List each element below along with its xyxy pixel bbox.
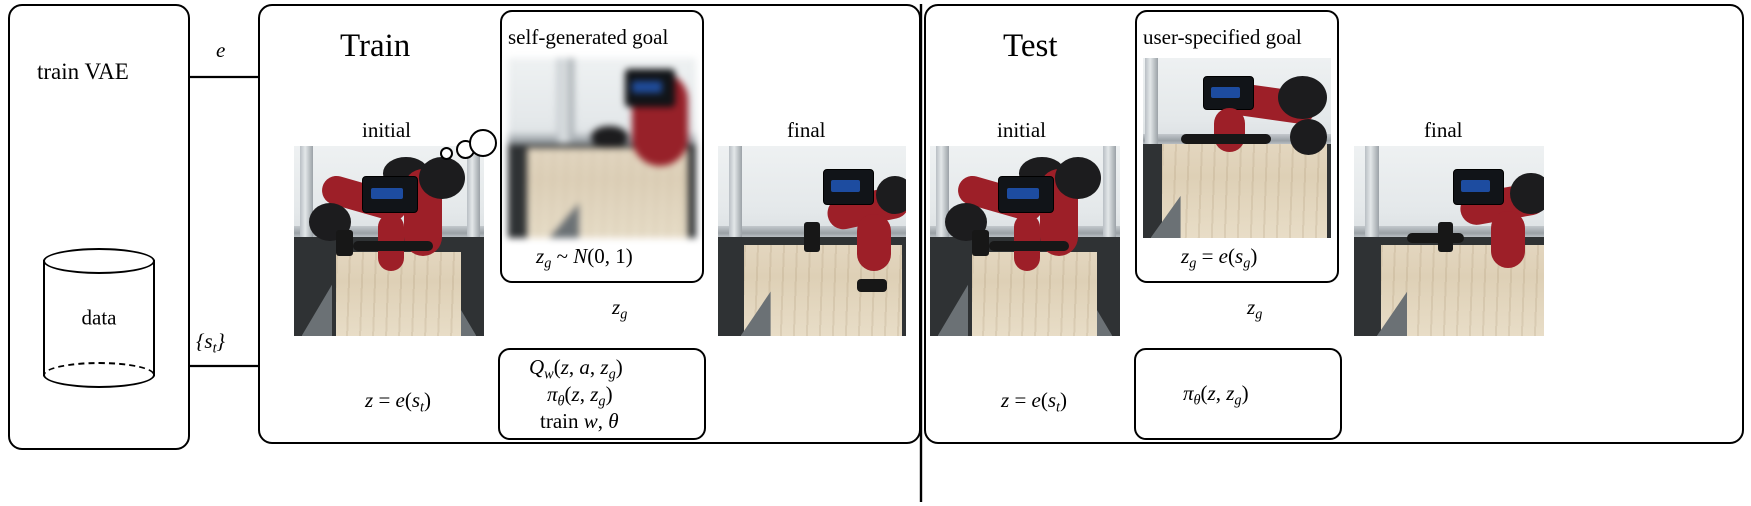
- test-final-photo: [1354, 146, 1544, 336]
- train-policy-function: πθ(z, zg): [547, 384, 613, 409]
- train-initial-caption: initial: [362, 120, 411, 141]
- test-final-caption: final: [1424, 120, 1462, 141]
- test-encoder-label: z = e(st): [1001, 390, 1067, 415]
- test-goal-photo: [1143, 58, 1331, 238]
- test-policy-function: πθ(z, zg): [1183, 383, 1249, 408]
- cylinder-top: [43, 248, 155, 274]
- edge-label-states: {st}: [196, 331, 225, 356]
- train-goal-formula: zg ~ N(0, 1): [536, 246, 633, 271]
- train-panel-title: Train: [340, 30, 410, 63]
- train-goal-photo: [508, 58, 696, 238]
- train-goal-latent-label: zg: [612, 297, 627, 322]
- data-label: data: [43, 306, 155, 331]
- edge-label-e: e: [216, 40, 225, 61]
- train-final-caption: final: [787, 120, 825, 141]
- train-encoder-label: z = e(st): [365, 390, 431, 415]
- vae-panel-title: train VAE: [37, 60, 129, 83]
- test-goal-formula: zg = e(sg): [1181, 246, 1257, 271]
- train-initial-photo: [294, 146, 484, 336]
- data-cylinder-icon: data: [43, 248, 155, 388]
- test-initial-caption: initial: [997, 120, 1046, 141]
- thought-bubble-small-icon: [440, 147, 453, 160]
- figure-root: train VAE data e {st} Train initial self…: [0, 0, 1751, 506]
- train-goal-box-title: self-generated goal: [508, 27, 668, 48]
- test-panel-title: Test: [1003, 30, 1058, 63]
- test-goal-latent-label: zg: [1247, 297, 1262, 322]
- test-goal-box-title: user-specified goal: [1143, 27, 1302, 48]
- train-q-function: Qw(z, a, zg): [529, 357, 623, 382]
- train-final-photo: [718, 146, 906, 336]
- train-objective: train w, θ: [540, 411, 619, 432]
- test-initial-photo: [930, 146, 1120, 336]
- thought-bubble-large-icon: [469, 129, 497, 157]
